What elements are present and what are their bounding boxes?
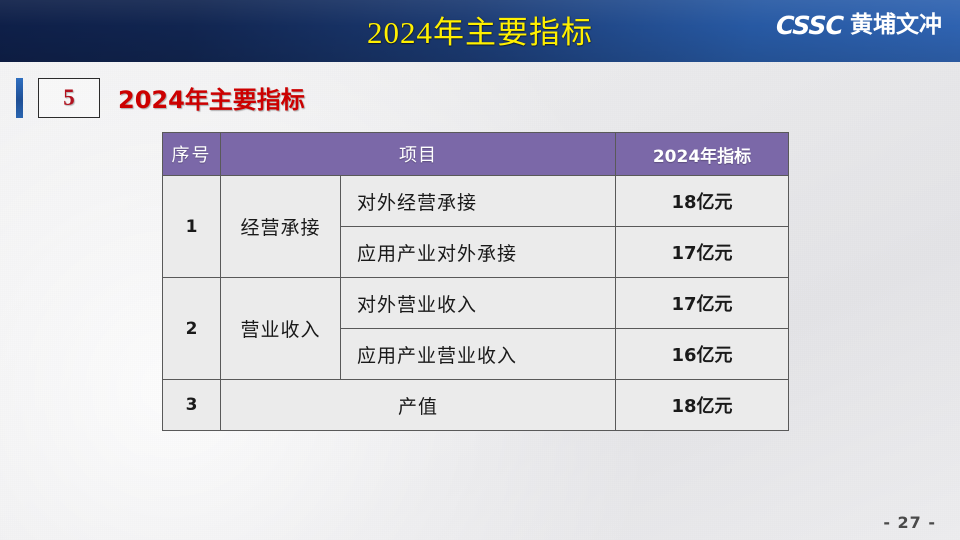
cell-group: 营业收入 <box>221 278 341 380</box>
table-row: 3 产值 18亿元 <box>163 380 789 431</box>
metrics-table: 序号 项目 2024年指标 1 经营承接 对外经营承接 18亿元 应用产业对外承… <box>162 132 789 431</box>
cell-item-value: 18亿元 <box>616 380 789 431</box>
table-header: 序号 项目 2024年指标 <box>163 133 789 176</box>
logo-cssc-mark: CSSC <box>776 13 844 38</box>
cell-group: 经营承接 <box>221 176 341 278</box>
table-header-row: 序号 项目 2024年指标 <box>163 133 789 176</box>
cell-index: 2 <box>163 278 221 380</box>
column-header-index: 序号 <box>163 133 221 176</box>
table-row: 1 经营承接 对外经营承接 18亿元 <box>163 176 789 227</box>
cell-item-value: 16亿元 <box>616 329 789 380</box>
company-logo: CSSC 黄埔文冲 <box>776 13 942 38</box>
cell-item-value: 17亿元 <box>616 278 789 329</box>
column-header-value: 2024年指标 <box>616 133 789 176</box>
section-number: 5 <box>38 78 100 118</box>
cell-item-label: 应用产业对外承接 <box>341 227 616 278</box>
cell-item-label: 对外经营承接 <box>341 176 616 227</box>
section-accent-bar <box>16 78 23 118</box>
section-title: 2024年主要指标 <box>118 80 305 115</box>
page-number: - 27 - <box>883 513 936 532</box>
cell-item-label: 应用产业营业收入 <box>341 329 616 380</box>
cell-item-label: 产值 <box>221 380 616 431</box>
table-row: 2 营业收入 对外营业收入 17亿元 <box>163 278 789 329</box>
cell-item-value: 18亿元 <box>616 176 789 227</box>
metrics-table-wrapper: 序号 项目 2024年指标 1 经营承接 对外经营承接 18亿元 应用产业对外承… <box>162 132 788 431</box>
cell-item-label: 对外营业收入 <box>341 278 616 329</box>
table-body: 1 经营承接 对外经营承接 18亿元 应用产业对外承接 17亿元 2 营业收入 … <box>163 176 789 431</box>
cell-index: 1 <box>163 176 221 278</box>
cell-index: 3 <box>163 380 221 431</box>
slide-banner: 2024年主要指标 CSSC 黄埔文冲 <box>0 0 960 62</box>
logo-company-name: 黄埔文冲 <box>850 14 942 37</box>
slide: 2024年主要指标 CSSC 黄埔文冲 5 2024年主要指标 序号 项目 20… <box>0 0 960 540</box>
cell-item-value: 17亿元 <box>616 227 789 278</box>
column-header-item: 项目 <box>221 133 616 176</box>
